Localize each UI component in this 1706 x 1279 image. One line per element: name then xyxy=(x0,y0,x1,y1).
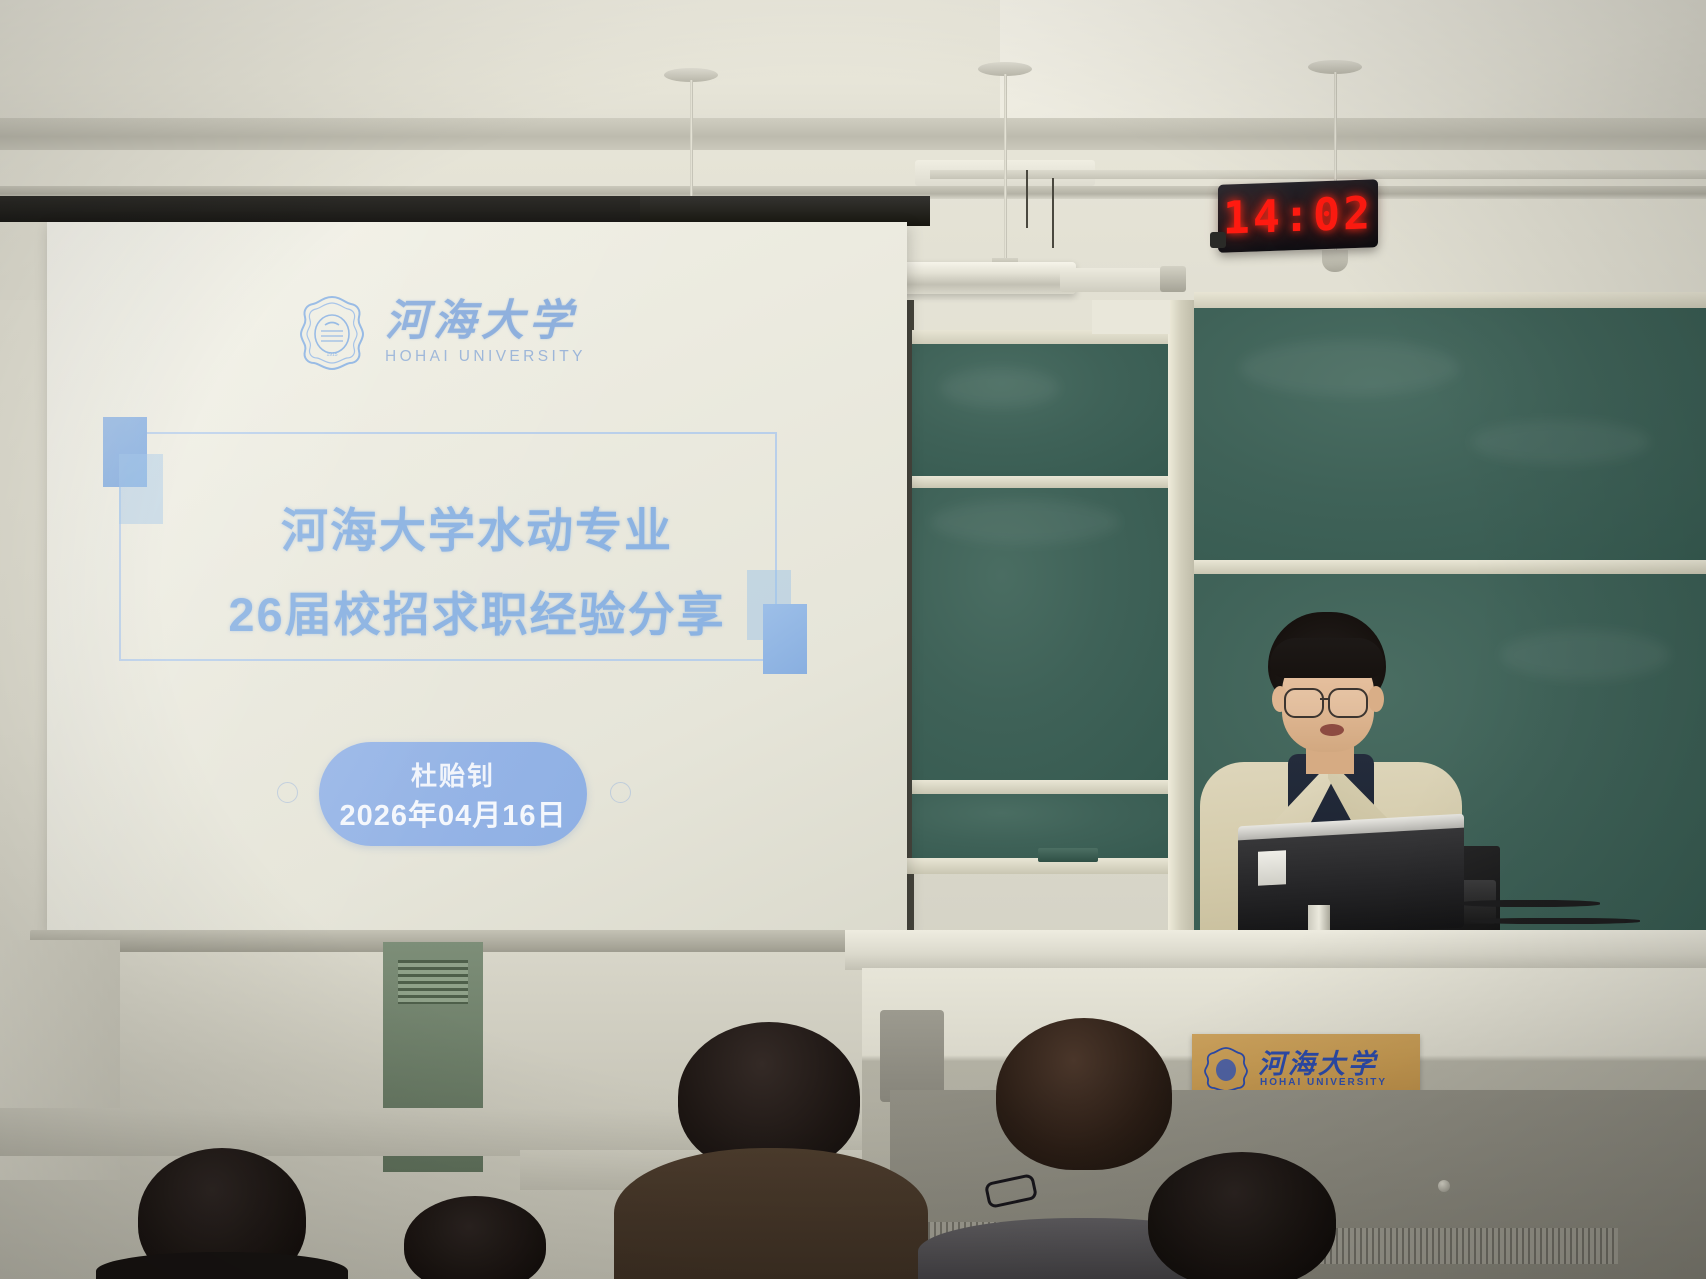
chalk-smudge xyxy=(1240,340,1460,396)
decor-circle-right xyxy=(610,782,631,803)
blackboard-eraser xyxy=(1038,848,1098,862)
plaque-seal-icon xyxy=(1204,1046,1248,1092)
mount-bracket xyxy=(1210,232,1226,248)
chalk-smudge xyxy=(940,368,1060,408)
slide-title-line-2: 26届校招求职经验分享 xyxy=(47,576,907,645)
chalk-rail xyxy=(912,780,1168,794)
podium-side-speaker xyxy=(880,1010,944,1102)
monitor-asset-label xyxy=(1258,850,1286,886)
fluorescent-light-fixture xyxy=(1060,268,1170,292)
presentation-slide: 1915 河海大学 HOHAI UNIVERSITY 河海大学水动专业 26届校… xyxy=(47,222,907,932)
blackboard-panel-left-upper xyxy=(912,344,1168,476)
university-seal-icon: 1915 xyxy=(295,294,369,372)
glasses-lens-right xyxy=(1328,688,1368,718)
university-logo: 1915 河海大学 HOHAI UNIVERSITY xyxy=(295,294,615,372)
audience-head xyxy=(1148,1152,1336,1279)
fixture-end-cap xyxy=(1160,266,1186,292)
lamp-rod xyxy=(1004,74,1007,268)
podium-desktop xyxy=(845,930,1706,970)
wall-panel-between-boards xyxy=(1092,300,1170,334)
chalk-smudge xyxy=(930,500,1120,544)
chalk-rail xyxy=(1194,560,1706,574)
glasses-bridge xyxy=(1320,698,1330,700)
slide-title-line-1: 河海大学水动专业 xyxy=(47,492,907,561)
audience-shoulder xyxy=(614,1148,928,1279)
logo-chinese-text: 河海大学 xyxy=(385,300,586,343)
presenter-name: 杜贻钊 xyxy=(319,756,587,793)
presenter-badge: 杜贻钊 2026年04月16日 xyxy=(319,742,587,846)
conduit-pipe xyxy=(930,170,1706,179)
presenter-hair-fringe xyxy=(1270,638,1384,678)
panel-screw xyxy=(1438,1180,1450,1192)
presenter-ear xyxy=(1368,686,1384,712)
chalk-smudge xyxy=(1500,630,1670,680)
logo-english-text: HOHAI UNIVERSITY xyxy=(385,348,586,366)
svg-text:1915: 1915 xyxy=(326,352,337,358)
hanging-wire xyxy=(1052,178,1054,248)
cable xyxy=(1470,918,1640,924)
chalk-smudge xyxy=(1470,420,1650,464)
plaque-chinese-text: 河海大学 xyxy=(1258,1042,1378,1081)
lamp-shade xyxy=(1322,250,1348,272)
plaque-english-text: HOHAI UNIVERSITY xyxy=(1260,1077,1387,1088)
blackboard-frame-right xyxy=(1194,292,1706,308)
chalk-rail xyxy=(912,476,1168,488)
presenter-mouth xyxy=(1320,724,1344,736)
vent-grille-icon xyxy=(1318,1228,1618,1264)
glasses-lens-left xyxy=(1284,688,1324,718)
vent-grille-icon xyxy=(398,960,468,1004)
audience-head xyxy=(996,1018,1172,1170)
presentation-date: 2026年04月16日 xyxy=(319,792,587,834)
decor-circle-left xyxy=(277,782,298,803)
cable xyxy=(1460,900,1600,907)
hanging-wire xyxy=(1026,170,1028,228)
clock-display: 14:02 xyxy=(1218,186,1378,245)
wall-digital-clock: 14:02 xyxy=(1218,179,1378,253)
lecture-hall-photo: 14:02 1915 xyxy=(0,0,1706,1279)
